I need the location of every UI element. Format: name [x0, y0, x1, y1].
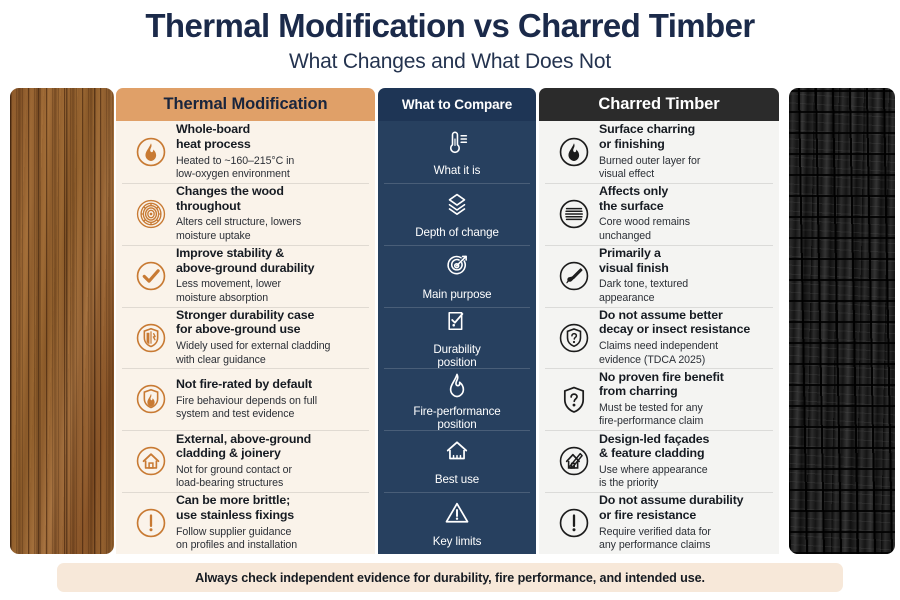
compare-label: Durabilityposition [433, 343, 480, 369]
flame-circle-icon [549, 133, 599, 171]
row-text: Can be more brittle;use stainless fixing… [176, 493, 367, 552]
row-subtext: Claims need independentevidence (TDCA 20… [599, 340, 771, 367]
row-subtext: Must be tested for anyfire-performance c… [599, 402, 771, 429]
thermometer-icon [442, 127, 472, 162]
table-row: Improve stability &above-ground durabili… [116, 245, 375, 307]
row-text: Surface charringor finishingBurned outer… [599, 122, 771, 181]
compare-label: Key limits [433, 535, 482, 548]
exclamation-circle-icon [126, 504, 176, 542]
compare-label: Main purpose [422, 288, 491, 301]
row-title: Do not assume durabilityor fire resistan… [599, 493, 771, 522]
table-row: Stronger durability casefor above-ground… [116, 307, 375, 369]
row-subtext: Widely used for external claddingwith cl… [176, 340, 367, 367]
row-title: No proven fire benefitfrom charring [599, 370, 771, 399]
page-title: Thermal Modification vs Charred Timber [0, 8, 900, 45]
row-text: Whole-boardheat processHeated to ~160–21… [176, 122, 367, 181]
row-subtext: Alters cell structure, lowersmoisture up… [176, 216, 367, 243]
row-text: Do not assume betterdecay or insect resi… [599, 308, 771, 367]
tree-rings-circle-icon [126, 195, 176, 233]
column-header-compare: What to Compare [378, 88, 536, 121]
table-row: Affects onlythe surfaceCore wood remains… [539, 183, 779, 245]
house-icon [442, 436, 472, 471]
row-title: Changes the woodthroughout [176, 184, 367, 213]
row-text: No proven fire benefitfrom charringMust … [599, 370, 771, 429]
compare-rows: What it isDepth of changeMain purposeDur… [378, 121, 536, 554]
table-row: No proven fire benefitfrom charringMust … [539, 368, 779, 430]
row-subtext: Fire behaviour depends on fullsystem and… [176, 395, 367, 422]
footer-note-bar: Always check independent evidence for du… [57, 563, 843, 592]
house-plank-circle-icon [549, 442, 599, 480]
compare-row: Best use [378, 430, 536, 492]
compare-label: Depth of change [415, 226, 499, 239]
row-text: Not fire-rated by defaultFire behaviour … [176, 377, 367, 422]
row-subtext: Less movement, lowermoisture absorption [176, 278, 367, 305]
house-circle-icon [126, 442, 176, 480]
row-title: Primarily avisual finish [599, 246, 771, 275]
shield-flame-circle-icon [126, 380, 176, 418]
row-subtext: Heated to ~160–215°C inlow-oxygen enviro… [176, 155, 367, 182]
charred-timber-photo [789, 88, 895, 554]
table-row: Whole-boardheat processHeated to ~160–21… [116, 121, 375, 183]
table-row: External, above-groundcladding & joinery… [116, 430, 375, 492]
checkmark-circle-icon [126, 257, 176, 295]
row-subtext: Use where appearanceis the priority [599, 464, 771, 491]
row-text: Stronger durability casefor above-ground… [176, 308, 367, 367]
column-header-charred: Charred Timber [539, 88, 779, 121]
row-text: Do not assume durabilityor fire resistan… [599, 493, 771, 552]
row-subtext: Not for ground contact orload-bearing st… [176, 464, 367, 491]
row-subtext: Dark tone, texturedappearance [599, 278, 771, 305]
row-subtext: Burned outer layer forvisual effect [599, 155, 771, 182]
shield-question-icon [549, 380, 599, 418]
shield-plank-circle-icon [126, 319, 176, 357]
row-text: Affects onlythe surfaceCore wood remains… [599, 184, 771, 243]
thermal-timber-photo [10, 88, 114, 554]
table-row: Changes the woodthroughoutAlters cell st… [116, 183, 375, 245]
compare-row: Depth of change [378, 183, 536, 245]
compare-row: What it is [378, 121, 536, 183]
footer-note-text: Always check independent evidence for du… [195, 571, 705, 585]
row-text: Primarily avisual finishDark tone, textu… [599, 246, 771, 305]
comparison-table: Thermal Modification Whole-boardheat pro… [114, 88, 781, 554]
row-title: Can be more brittle;use stainless fixing… [176, 493, 367, 522]
row-title: Affects onlythe surface [599, 184, 771, 213]
row-text: Design-led façades& feature claddingUse … [599, 432, 771, 491]
row-subtext: Require verified data forany performance… [599, 526, 771, 553]
comparison-board: Thermal Modification Whole-boardheat pro… [0, 88, 900, 558]
thermal-rows: Whole-boardheat processHeated to ~160–21… [116, 121, 375, 554]
flame-circle-icon [126, 133, 176, 171]
table-row: Not fire-rated by defaultFire behaviour … [116, 368, 375, 430]
column-header-thermal: Thermal Modification [116, 88, 375, 121]
column-charred-timber: Charred Timber Surface charringor finish… [539, 88, 779, 554]
compare-label: What it is [434, 164, 481, 177]
compare-row: Main purpose [378, 245, 536, 307]
exclamation-circle-icon [549, 504, 599, 542]
target-arrow-icon [442, 251, 472, 286]
table-row: Primarily avisual finishDark tone, textu… [539, 245, 779, 307]
compare-label: Fire-performanceposition [413, 405, 500, 431]
row-title: Whole-boardheat process [176, 122, 367, 151]
page-header: Thermal Modification vs Charred Timber W… [0, 0, 900, 74]
checklist-clipboard-icon [442, 306, 472, 341]
table-row: Can be more brittle;use stainless fixing… [116, 492, 375, 554]
row-title: Improve stability &above-ground durabili… [176, 246, 367, 275]
compare-label: Best use [435, 473, 479, 486]
warning-triangle-icon [442, 498, 472, 533]
table-row: Do not assume betterdecay or insect resi… [539, 307, 779, 369]
stacked-lines-circle-icon [549, 195, 599, 233]
layers-icon [442, 189, 472, 224]
column-what-to-compare: What to Compare What it isDepth of chang… [378, 88, 536, 554]
row-text: Improve stability &above-ground durabili… [176, 246, 367, 305]
row-title: Not fire-rated by default [176, 377, 367, 392]
row-title: Surface charringor finishing [599, 122, 771, 151]
paint-brush-circle-icon [549, 257, 599, 295]
page-subtitle: What Changes and What Does Not [0, 50, 900, 74]
compare-row: Key limits [378, 492, 536, 554]
charred-rows: Surface charringor finishingBurned outer… [539, 121, 779, 554]
column-thermal-modification: Thermal Modification Whole-boardheat pro… [116, 88, 375, 554]
row-title: External, above-groundcladding & joinery [176, 432, 367, 461]
compare-row: Fire-performanceposition [378, 368, 536, 430]
table-row: Surface charringor finishingBurned outer… [539, 121, 779, 183]
row-subtext: Follow supplier guidanceon profiles and … [176, 526, 367, 553]
table-row: Design-led façades& feature claddingUse … [539, 430, 779, 492]
shield-question-circle-icon [549, 319, 599, 357]
row-text: External, above-groundcladding & joinery… [176, 432, 367, 491]
row-title: Stronger durability casefor above-ground… [176, 308, 367, 337]
compare-row: Durabilityposition [378, 307, 536, 369]
table-row: Do not assume durabilityor fire resistan… [539, 492, 779, 554]
row-title: Do not assume betterdecay or insect resi… [599, 308, 771, 337]
row-title: Design-led façades& feature cladding [599, 432, 771, 461]
row-text: Changes the woodthroughoutAlters cell st… [176, 184, 367, 243]
row-subtext: Core wood remainsunchanged [599, 216, 771, 243]
flame-icon [442, 368, 472, 403]
